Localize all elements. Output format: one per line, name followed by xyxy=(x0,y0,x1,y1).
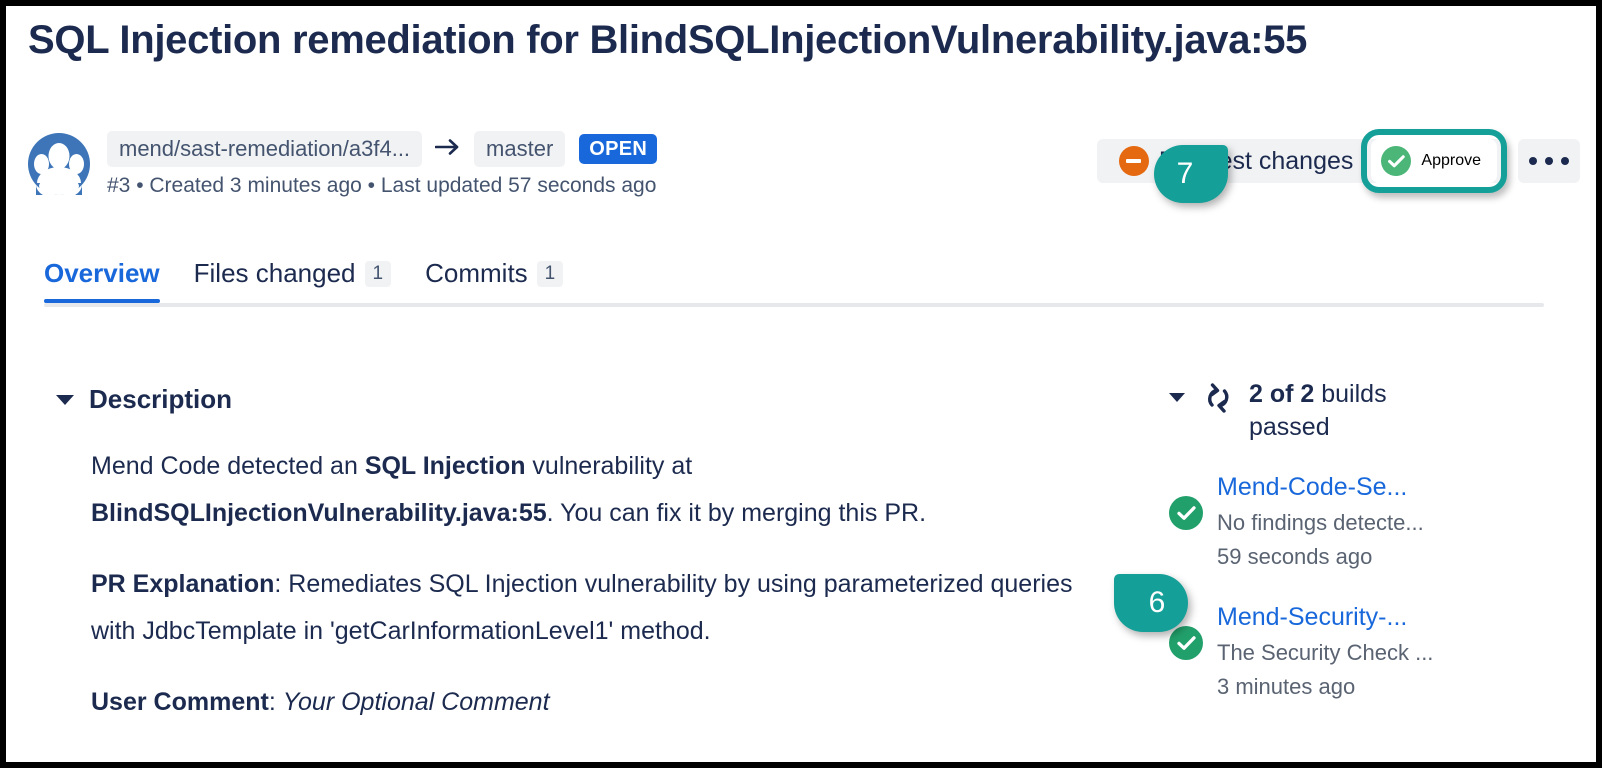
ellipsis-icon xyxy=(1561,157,1569,165)
tab-commits[interactable]: Commits 1 xyxy=(425,258,563,303)
callout-marker-7: 7 xyxy=(1154,145,1228,203)
builds-count: 2 of 2 xyxy=(1249,380,1314,408)
check-circle-icon xyxy=(1169,626,1203,660)
screenshot-frame: SQL Injection remediation for BlindSQLIn… xyxy=(0,0,1602,768)
callout-marker-6: 6 xyxy=(1114,574,1188,632)
approve-button[interactable]: Approve xyxy=(1371,139,1497,183)
callout-number: 7 xyxy=(1177,157,1194,191)
pull-request-page: SQL Injection remediation for BlindSQLIn… xyxy=(6,6,1596,762)
pr-explanation-label: PR Explanation xyxy=(91,570,274,598)
approve-label: Approve xyxy=(1421,152,1481,170)
tab-overview[interactable]: Overview xyxy=(44,258,160,303)
user-comment-label: User Comment xyxy=(91,688,269,716)
build-timestamp: 59 seconds ago xyxy=(1217,544,1372,569)
desc-p1-bold1: SQL Injection xyxy=(365,452,526,480)
desc-p1-mid: vulnerability at xyxy=(525,452,692,480)
tab-files-changed[interactable]: Files changed 1 xyxy=(194,258,391,303)
pr-meta-text: mend/sast-remediation/a3f4... master OPE… xyxy=(107,131,657,198)
tab-divider xyxy=(44,303,1544,307)
request-changes-button[interactable]: Request changes xyxy=(1107,146,1366,176)
pr-submeta: #3 • Created 3 minutes ago • Last update… xyxy=(107,174,657,198)
build-info: Mend-Security-... The Security Check ...… xyxy=(1217,598,1433,704)
approve-button-wrapper: Approve xyxy=(1371,139,1497,183)
pr-tabs: Overview Files changed 1 Commits 1 xyxy=(44,258,597,303)
check-circle-icon xyxy=(1169,496,1203,530)
description-paragraph-3: User Comment: Your Optional Comment xyxy=(91,679,1101,726)
builds-panel: 2 of 2 builds passed Mend-Code-Se... No … xyxy=(1169,378,1569,704)
build-info: Mend-Code-Se... No findings detecte... 5… xyxy=(1217,468,1424,574)
build-list-item[interactable]: Mend-Security-... The Security Check ...… xyxy=(1169,598,1569,704)
tab-label: Commits xyxy=(425,258,528,289)
build-list-item[interactable]: Mend-Code-Se... No findings detecte... 5… xyxy=(1169,468,1569,574)
status-badge: OPEN xyxy=(579,134,657,164)
description-paragraph-1: Mend Code detected an SQL Injection vuln… xyxy=(91,443,1101,537)
description-paragraph-2: PR Explanation: Remediates SQL Injection… xyxy=(91,561,1101,655)
pr-meta-row: mend/sast-remediation/a3f4... master OPE… xyxy=(28,131,657,198)
callout-number: 6 xyxy=(1149,586,1166,620)
tab-label: Overview xyxy=(44,258,160,289)
tab-count-badge: 1 xyxy=(537,261,564,287)
build-description: The Security Check ... xyxy=(1217,640,1433,665)
description-title: Description xyxy=(89,384,232,415)
description-header[interactable]: Description xyxy=(56,384,232,415)
target-branch-chip[interactable]: master xyxy=(474,131,565,167)
ellipsis-icon xyxy=(1545,157,1553,165)
sync-refresh-icon xyxy=(1201,382,1235,419)
build-name-link[interactable]: Mend-Security-... xyxy=(1217,603,1407,631)
arrow-right-icon xyxy=(435,137,461,162)
desc-p1-pre: Mend Code detected an xyxy=(91,452,365,480)
chevron-down-icon xyxy=(56,395,74,405)
tab-count-badge: 1 xyxy=(365,261,392,287)
build-name-link[interactable]: Mend-Code-Se... xyxy=(1217,473,1407,501)
build-description: No findings detecte... xyxy=(1217,510,1424,535)
source-branch-chip[interactable]: mend/sast-remediation/a3f4... xyxy=(107,131,422,167)
tab-label: Files changed xyxy=(194,258,356,289)
page-title: SQL Injection remediation for BlindSQLIn… xyxy=(28,18,1307,63)
ellipsis-icon xyxy=(1529,157,1537,165)
builds-summary[interactable]: 2 of 2 builds passed xyxy=(1169,378,1569,444)
builds-summary-text: 2 of 2 builds passed xyxy=(1249,378,1434,444)
more-options-button[interactable] xyxy=(1518,139,1580,183)
description-body: Mend Code detected an SQL Injection vuln… xyxy=(91,443,1101,750)
desc-p1-post: . You can fix it by merging this PR. xyxy=(547,499,926,527)
build-timestamp: 3 minutes ago xyxy=(1217,674,1355,699)
user-comment-value: Your Optional Comment xyxy=(283,688,550,716)
minus-circle-icon xyxy=(1119,146,1149,176)
user-group-avatar-icon xyxy=(28,133,90,195)
desc-p1-bold2: BlindSQLInjectionVulnerability.java:55 xyxy=(91,499,547,527)
check-circle-icon xyxy=(1381,146,1411,176)
user-comment-separator: : xyxy=(269,688,283,716)
chevron-down-icon xyxy=(1169,393,1185,402)
branch-line: mend/sast-remediation/a3f4... master OPE… xyxy=(107,131,657,167)
